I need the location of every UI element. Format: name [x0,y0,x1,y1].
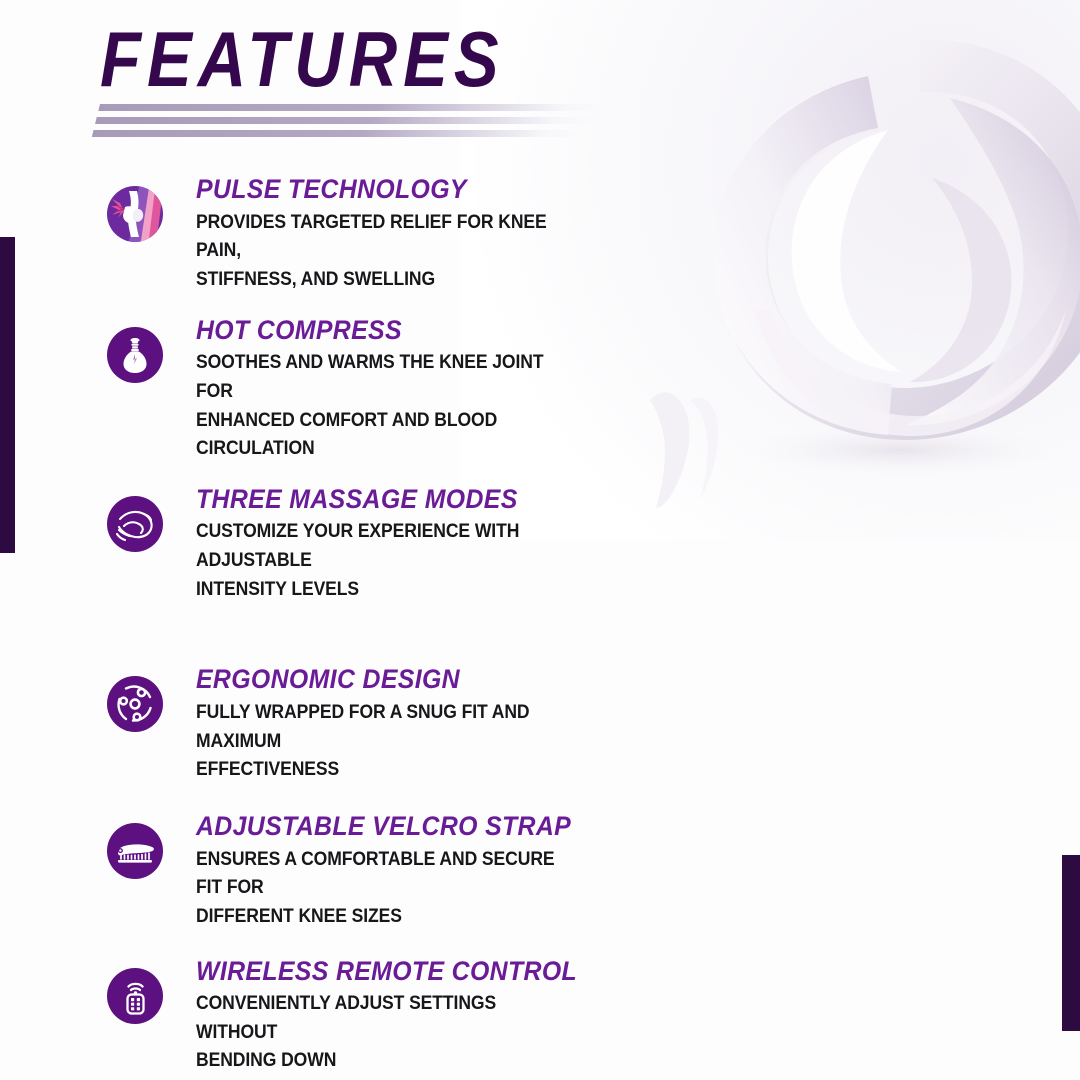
feature-description: SOOTHES AND WARMS THE KNEE JOINT FOR ENH… [196,348,574,463]
feature-text: ADJUSTABLE VELCRO STRAP ENSURES A COMFOR… [196,812,616,931]
right-edge-purple-bar [1062,855,1080,1031]
title-rule-1 [98,104,605,111]
velcro-strap-icon [106,822,164,880]
feature-item: HOT COMPRESS SOOTHES AND WARMS THE KNEE … [0,316,650,463]
feature-title: PULSE TECHNOLOGY [196,175,582,204]
feature-text: HOT COMPRESS SOOTHES AND WARMS THE KNEE … [196,316,616,463]
feature-title: ADJUSTABLE VELCRO STRAP [196,812,582,841]
feature-item: PULSE TECHNOLOGY PROVIDES TARGETED RELIE… [0,175,650,294]
feature-title: ERGONOMIC DESIGN [196,665,582,694]
page-title: FEATURES [100,22,633,96]
ergonomic-circles-icon [106,675,164,733]
feature-title: THREE MASSAGE MODES [196,485,582,514]
feature-title: HOT COMPRESS [196,316,582,345]
feature-text: PULSE TECHNOLOGY PROVIDES TARGETED RELIE… [196,175,616,294]
feature-description: PROVIDES TARGETED RELIEF FOR KNEE PAIN, … [196,208,574,294]
feature-description: CONVENIENTLY ADJUST SETTINGS WITHOUT BEN… [196,989,574,1075]
knee-joint-icon [106,185,164,243]
hot-compress-bag-icon [106,326,164,384]
feature-title: WIRELESS REMOTE CONTROL [196,957,582,986]
feature-item: THREE MASSAGE MODES CUSTOMIZE YOUR EXPER… [0,485,650,604]
header: FEATURES [100,22,720,96]
title-rule-2 [95,117,597,124]
feature-text: THREE MASSAGE MODES CUSTOMIZE YOUR EXPER… [196,485,616,604]
feature-description: ENSURES A COMFORTABLE AND SECURE FIT FOR… [196,845,574,931]
feature-description: CUSTOMIZE YOUR EXPERIENCE WITH ADJUSTABL… [196,517,574,603]
massage-hand-icon [106,495,164,553]
feature-item: WIRELESS REMOTE CONTROL CONVENIENTLY ADJ… [0,957,650,1076]
title-underline-stripes [89,104,620,150]
feature-item: ERGONOMIC DESIGN FULLY WRAPPED FOR A SNU… [0,665,650,784]
wireless-remote-icon [106,967,164,1025]
feature-list: PULSE TECHNOLOGY PROVIDES TARGETED RELIE… [0,175,650,1075]
feature-text: WIRELESS REMOTE CONTROL CONVENIENTLY ADJ… [196,957,616,1076]
feature-text: ERGONOMIC DESIGN FULLY WRAPPED FOR A SNU… [196,665,616,784]
title-rule-3 [92,130,586,137]
features-poster: FEATURES [0,0,1080,1080]
feature-description: FULLY WRAPPED FOR A SNUG FIT AND MAXIMUM… [196,698,574,784]
feature-item: ADJUSTABLE VELCRO STRAP ENSURES A COMFOR… [0,812,650,931]
